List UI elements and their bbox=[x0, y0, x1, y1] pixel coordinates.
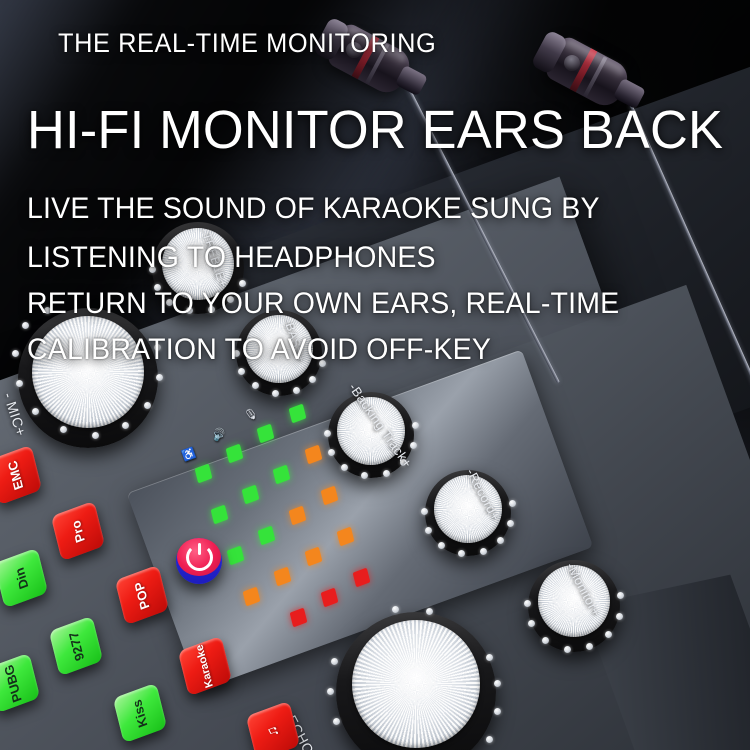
knob-indicator-dots bbox=[336, 612, 496, 750]
knob-echo[interactable] bbox=[336, 612, 496, 750]
knob-mic[interactable] bbox=[18, 308, 158, 448]
body-line-2: LISTENING TO HEADPHONES bbox=[27, 241, 436, 275]
body-line-4: CALIBRATION TO AVOID OFF-KEY bbox=[27, 333, 491, 367]
body-line-3: RETURN TO YOUR OWN EARS, REAL-TIME bbox=[27, 287, 619, 321]
body-line-1: LIVE THE SOUND OF KARAOKE SUNG BY bbox=[27, 192, 600, 226]
key-label: POP bbox=[132, 579, 153, 611]
key-label: 9277 bbox=[65, 629, 86, 662]
key-label: Din bbox=[11, 565, 30, 591]
power-button[interactable] bbox=[176, 538, 222, 584]
eyebrow-text: THE REAL-TIME MONITORING bbox=[58, 28, 436, 59]
key-label: PUBG bbox=[1, 662, 24, 704]
key-label: ♫ bbox=[264, 723, 283, 740]
power-button-face bbox=[177, 538, 221, 576]
banner-canvas: -TREBLE+ -BASS+ bbox=[0, 0, 750, 750]
key-label: EMC bbox=[4, 458, 25, 491]
key-label: Pro bbox=[68, 518, 87, 544]
power-icon bbox=[186, 544, 213, 571]
key-label: Kiss bbox=[130, 697, 151, 729]
key-label: Karaoke bbox=[194, 643, 216, 689]
headline-text: HI-FI MONITOR EARS BACK bbox=[27, 99, 723, 161]
knob-indicator-dots bbox=[18, 308, 158, 448]
